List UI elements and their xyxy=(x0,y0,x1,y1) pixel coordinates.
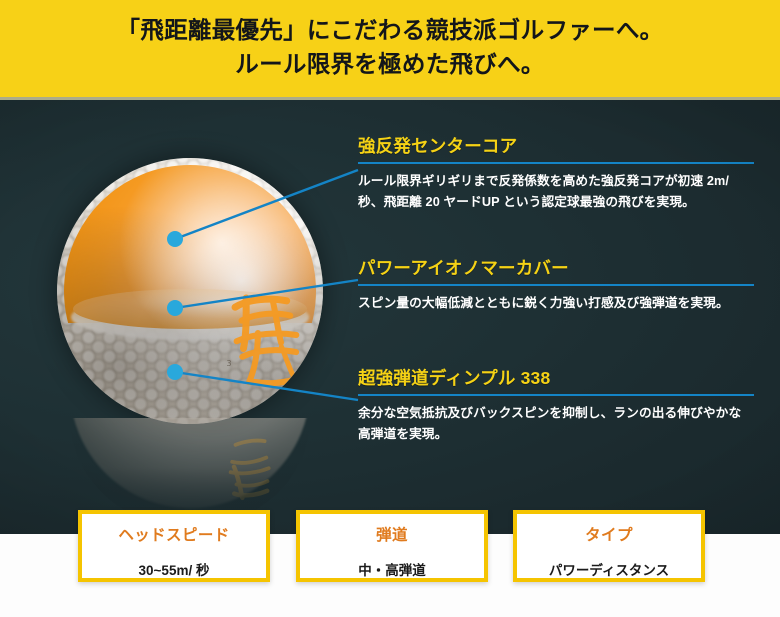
callout-dot-cover xyxy=(167,300,183,316)
callout-dot-dimple xyxy=(167,364,183,380)
headline-band: 「飛距離最優先」にこだわる競技派ゴルファーへ。 ルール限界を極めた飛びへ。 xyxy=(0,0,780,97)
headline-line-1: 「飛距離最優先」にこだわる競技派ゴルファーへ。 xyxy=(117,15,664,48)
spec-trajectory-value: 中・高弾道 xyxy=(358,559,426,579)
product-stage: 3 xyxy=(0,100,780,534)
promo-page: 「飛距離最優先」にこだわる競技派ゴルファーへ。 ルール限界を極めた飛びへ。 xyxy=(0,0,780,617)
headline-line-2: ルール限界を極めた飛びへ。 xyxy=(235,49,544,82)
spec-head-speed-value: 30~55m/ 秒 xyxy=(139,559,210,579)
callout-connectors xyxy=(0,100,780,534)
spec-type-value: パワーディスタンス xyxy=(549,559,669,579)
callout-dot-core xyxy=(167,231,183,247)
